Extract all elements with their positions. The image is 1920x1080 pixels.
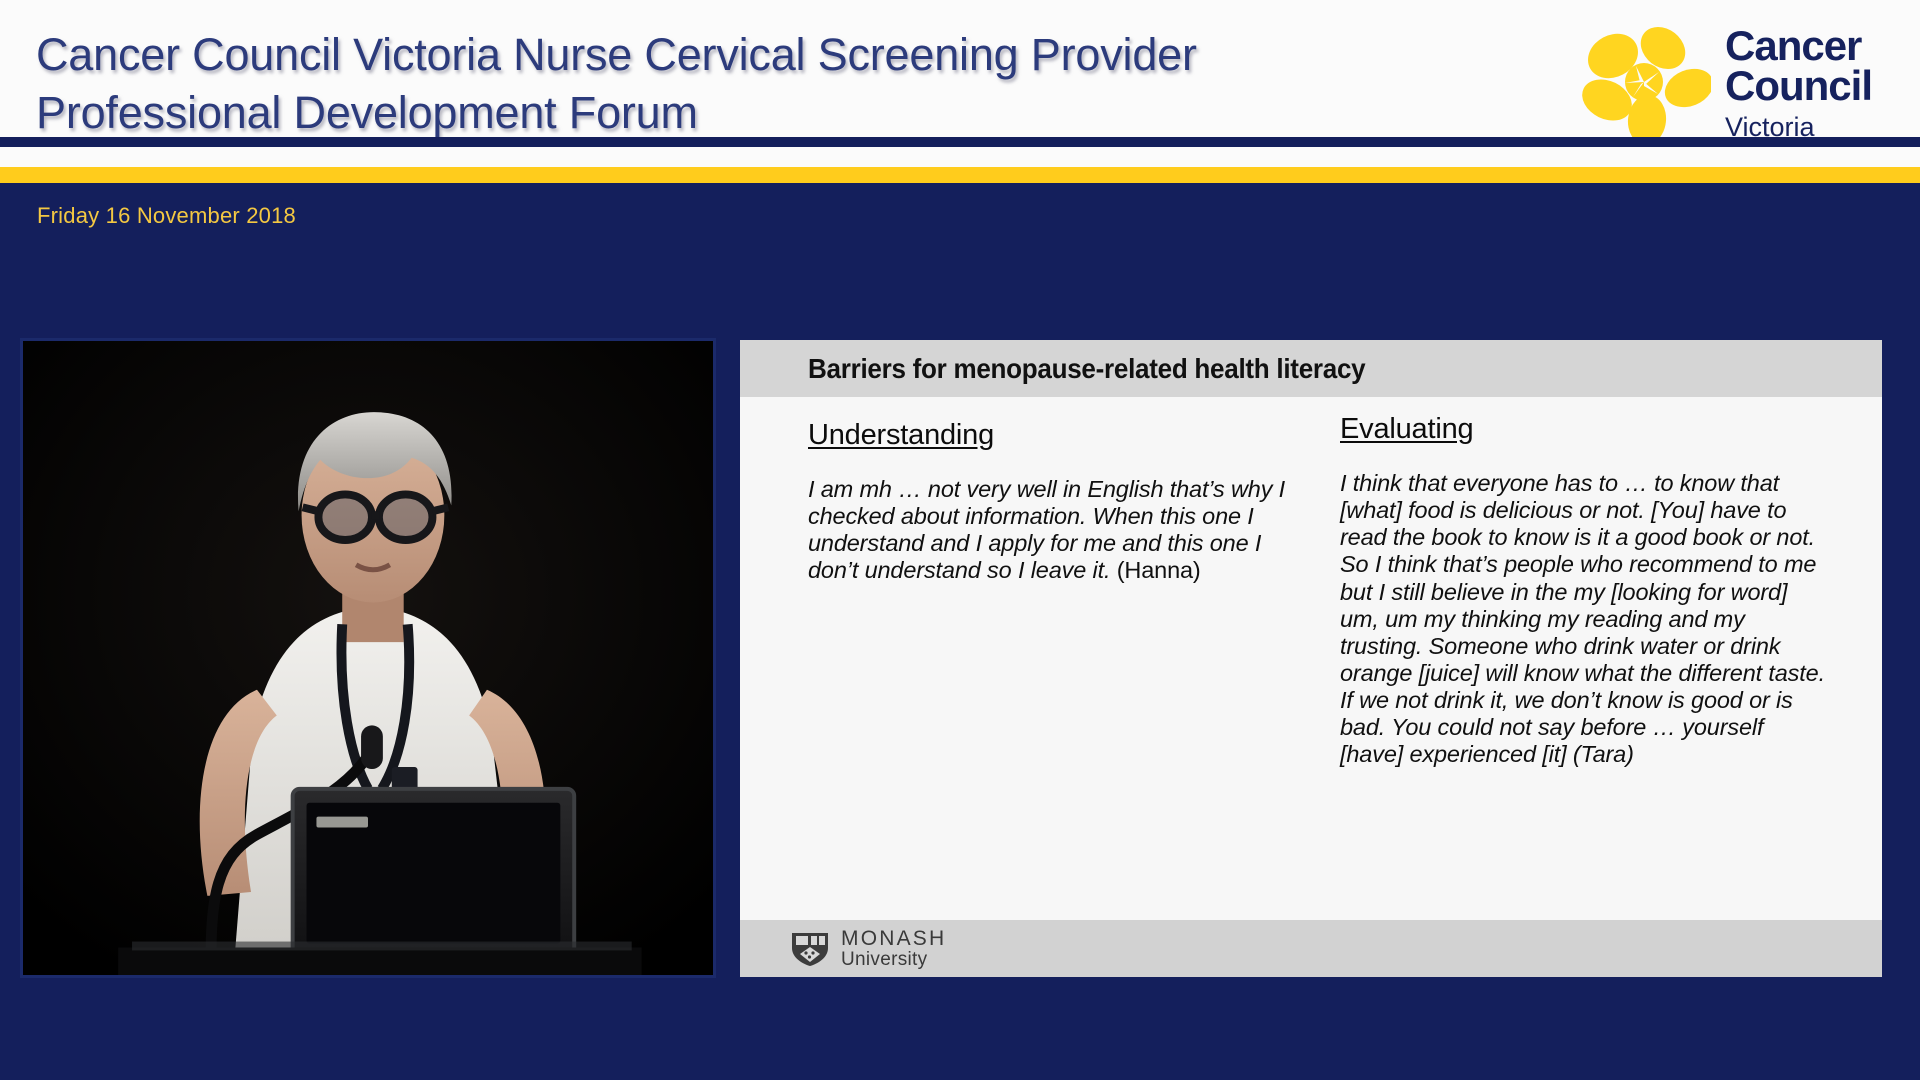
presenter-photo-image xyxy=(23,341,713,975)
slide-titlebar: Barriers for menopause-related health li… xyxy=(740,340,1882,397)
slide-screenshot: Cancer Council Victoria Nurse Cervical S… xyxy=(0,0,1920,1080)
slide-body: Understanding I am mh … not very well in… xyxy=(740,397,1882,920)
slide-footer: MONASH University xyxy=(740,920,1882,977)
column-evaluating: Evaluating I think that everyone has to … xyxy=(1340,413,1830,920)
column-understanding: Understanding I am mh … not very well in… xyxy=(808,419,1286,920)
monash-line-2: University xyxy=(841,950,946,969)
monash-wordmark: MONASH University xyxy=(841,928,946,969)
logo-wordmark: Cancer Council Victoria xyxy=(1725,26,1872,142)
quote-evaluating: I think that everyone has to … to know t… xyxy=(1340,470,1830,769)
quote-text-understanding: I am mh … not very well in English that’… xyxy=(808,476,1285,583)
slide-title: Barriers for menopause-related health li… xyxy=(808,353,1365,385)
navy-divider-bar xyxy=(0,137,1920,147)
quote-understanding: I am mh … not very well in English that’… xyxy=(808,476,1286,585)
monash-shield-icon xyxy=(788,930,832,968)
logo-line-cancer: Cancer xyxy=(1725,26,1872,66)
column-heading-evaluating: Evaluating xyxy=(1340,413,1830,446)
presentation-slide: Barriers for menopause-related health li… xyxy=(740,340,1882,977)
page-title: Cancer Council Victoria Nurse Cervical S… xyxy=(36,26,1197,141)
monash-university-logo: MONASH University xyxy=(788,928,946,969)
logo-line-council: Council xyxy=(1725,66,1872,106)
gold-accent-bar xyxy=(0,167,1920,183)
header-title-wrap: Cancer Council Victoria Nurse Cervical S… xyxy=(0,26,1197,141)
column-heading-understanding: Understanding xyxy=(808,419,1286,452)
presenter-photo xyxy=(20,338,716,978)
cancer-council-logo: Cancer Council Victoria xyxy=(1577,22,1920,146)
quote-attribution-understanding: (Hanna) xyxy=(1117,557,1201,583)
daffodil-flower-icon xyxy=(1577,22,1711,146)
monash-line-1: MONASH xyxy=(841,928,946,949)
event-date: Friday 16 November 2018 xyxy=(37,203,296,229)
